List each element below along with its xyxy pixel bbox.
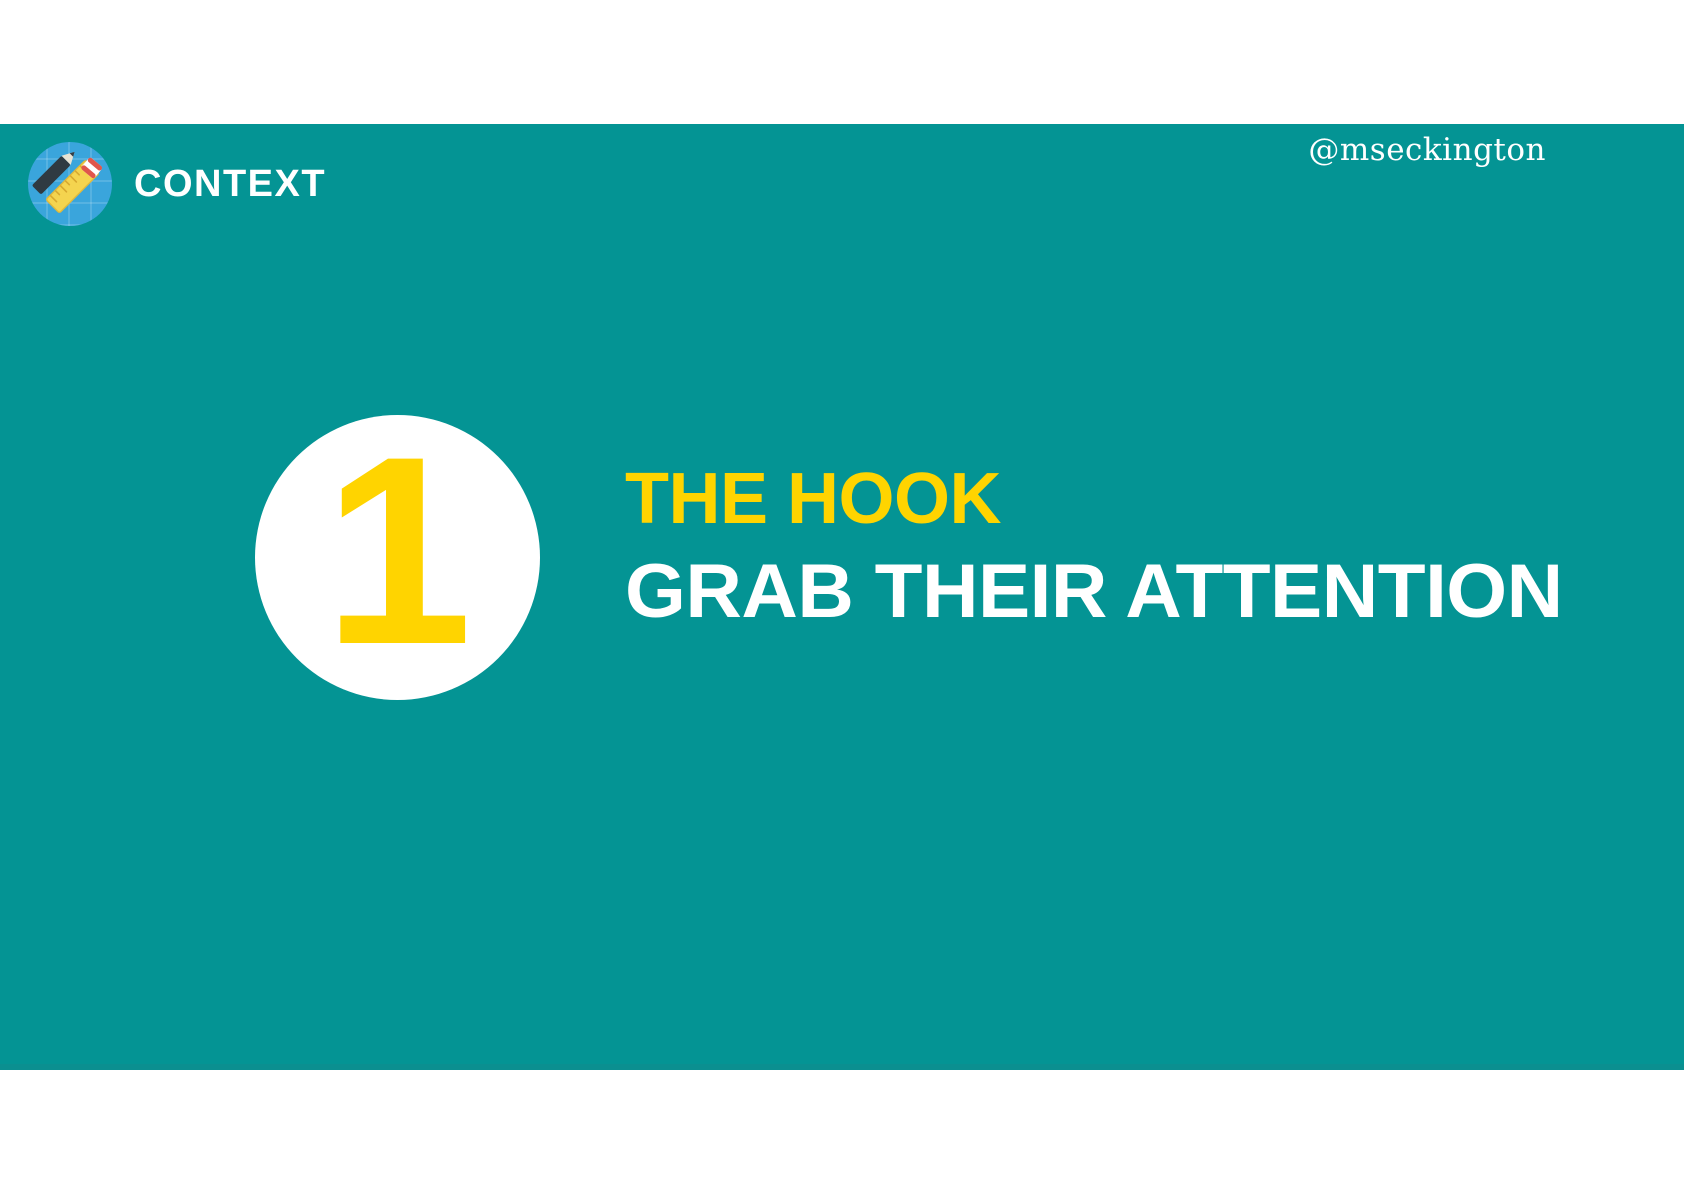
step-number-value: 1 [323, 453, 472, 663]
headline-block: THE HOOK GRAB THEIR ATTENTION [625, 461, 1635, 633]
slide-header: CONTEXT [28, 142, 326, 226]
slide-bottom-edge [0, 1064, 1684, 1070]
section-label: CONTEXT [134, 165, 326, 203]
step-number-badge: 1 [255, 415, 540, 700]
headline-primary: THE HOOK [625, 461, 1635, 539]
icon-artwork [28, 142, 112, 226]
ruler-pencil-icon [28, 142, 112, 226]
author-handle: @mseckington [1308, 132, 1546, 168]
step-number-glyph: 1 [298, 453, 498, 663]
headline-secondary: GRAB THEIR ATTENTION [625, 551, 1665, 633]
presentation-slide: CONTEXT @mseckington 1 THE HOOK GRAB THE… [0, 124, 1684, 1070]
